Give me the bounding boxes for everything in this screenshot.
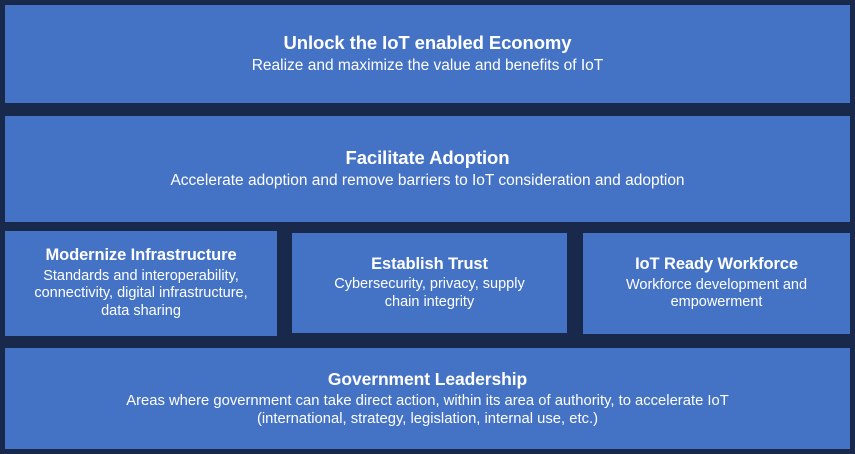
panel-trust-body-line-2: chain integrity [334, 294, 524, 312]
panel-workforce-title: IoT Ready Workforce [635, 255, 798, 274]
panel-modernize-body: Standards and interoperability, connecti… [34, 268, 247, 321]
panel-establish-trust: Establish Trust Cybersecurity, privacy, … [292, 233, 567, 333]
iot-strategy-diagram: Unlock the IoT enabled Economy Realize a… [0, 0, 855, 454]
panel-government-body: Areas where government can take direct a… [126, 392, 729, 428]
panel-workforce-body-line-2: empowerment [626, 294, 807, 312]
panel-modernize-body-line-1: Standards and interoperability, [34, 268, 247, 286]
panel-trust-body: Cybersecurity, privacy, supply chain int… [334, 276, 524, 311]
panel-facilitate-title: Facilitate Adoption [346, 147, 510, 169]
panel-government-leadership: Government Leadership Areas where govern… [5, 348, 850, 449]
panel-workforce-body: Workforce development and empowerment [626, 277, 807, 312]
panel-unlock-body: Realize and maximize the value and benef… [252, 57, 604, 76]
panel-trust-body-line-1: Cybersecurity, privacy, supply [334, 276, 524, 294]
panel-modernize-body-line-3: data sharing [34, 303, 247, 321]
panel-modernize-infrastructure: Modernize Infrastructure Standards and i… [5, 231, 277, 336]
panel-facilitate-body: Accelerate adoption and remove barriers … [170, 172, 684, 191]
panel-iot-ready-workforce: IoT Ready Workforce Workforce developmen… [583, 233, 850, 334]
panel-government-body-line-2: (international, strategy, legislation, i… [126, 410, 729, 428]
panel-facilitate-adoption: Facilitate Adoption Accelerate adoption … [5, 116, 850, 222]
panel-government-body-line-1: Areas where government can take direct a… [126, 392, 729, 410]
panel-government-title: Government Leadership [328, 369, 527, 390]
panel-modernize-body-line-2: connectivity, digital infrastructure, [34, 285, 247, 303]
panel-modernize-title: Modernize Infrastructure [45, 246, 236, 265]
panel-unlock-title: Unlock the IoT enabled Economy [284, 32, 572, 54]
panel-workforce-body-line-1: Workforce development and [626, 277, 807, 295]
panel-unlock-iot-economy: Unlock the IoT enabled Economy Realize a… [5, 5, 850, 103]
panel-trust-title: Establish Trust [371, 255, 488, 274]
